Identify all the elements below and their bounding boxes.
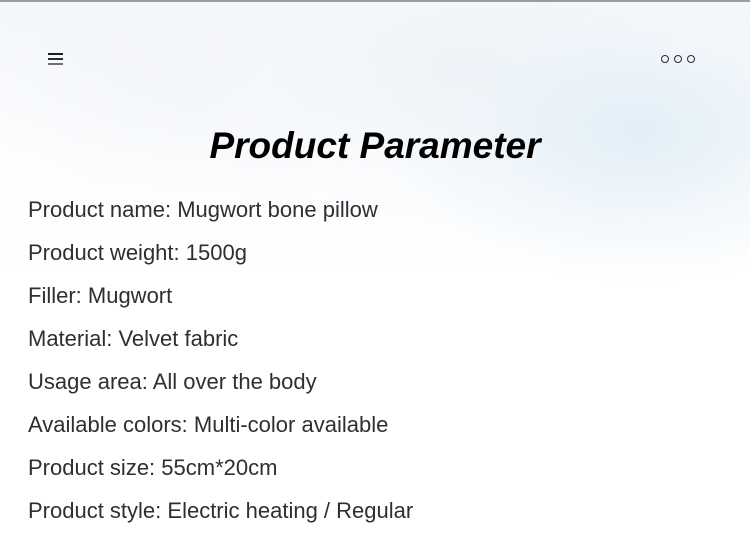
hamburger-bar-middle — [48, 58, 63, 60]
spec-item-product-size: Product size: 55cm*20cm — [28, 446, 728, 489]
page-title: Product Parameter — [0, 123, 750, 169]
more-dot-3 — [687, 55, 695, 63]
more-dot-2 — [674, 55, 682, 63]
hamburger-bar-top — [48, 53, 63, 55]
page-header — [0, 2, 750, 94]
hamburger-bar-bottom — [48, 63, 63, 65]
spec-item-product-style: Product style: Electric heating / Regula… — [28, 489, 728, 532]
spec-item-product-weight: Product weight: 1500g — [28, 231, 728, 274]
spec-item-available-colors: Available colors: Multi-color available — [28, 403, 728, 446]
spec-item-usage-area: Usage area: All over the body — [28, 360, 728, 403]
more-options-icon[interactable] — [661, 52, 695, 66]
spec-item-material: Material: Velvet fabric — [28, 317, 728, 360]
spec-item-filler: Filler: Mugwort — [28, 274, 728, 317]
product-spec-list: Product name: Mugwort bone pillow Produc… — [28, 188, 728, 532]
more-dot-1 — [661, 55, 669, 63]
spec-item-product-name: Product name: Mugwort bone pillow — [28, 188, 728, 231]
hamburger-menu-icon[interactable] — [48, 49, 68, 69]
product-parameter-page: Product Parameter Product name: Mugwort … — [0, 0, 750, 558]
